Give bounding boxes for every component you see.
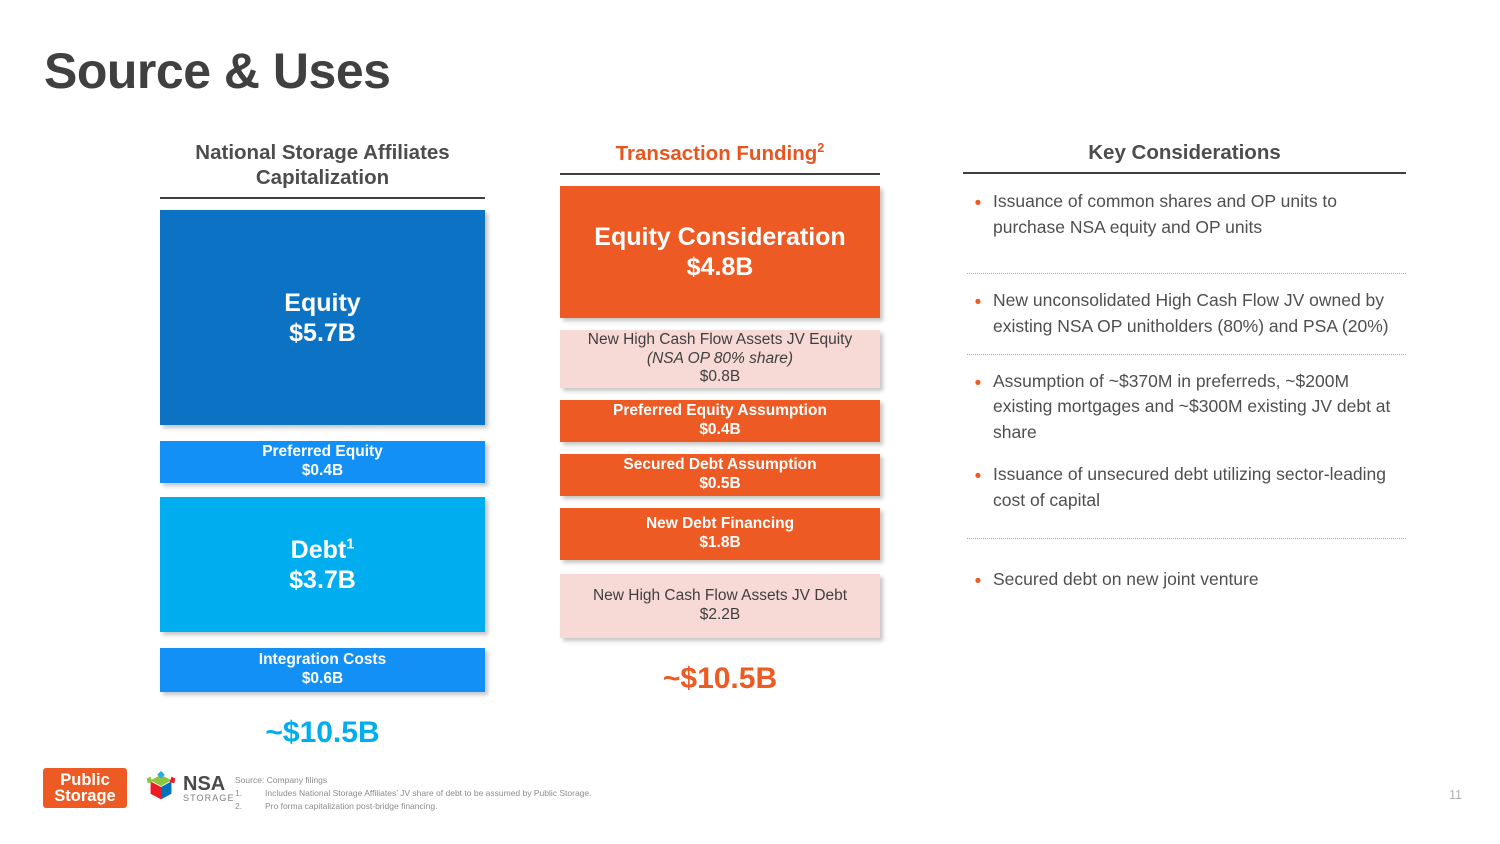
block-preferred-equity-assumption-value: $0.4B (699, 421, 740, 440)
block-preferred-equity-label: Preferred Equity (262, 443, 383, 462)
block-jv-equity[interactable]: New High Cash Flow Assets JV Equity (NSA… (560, 330, 880, 388)
block-new-debt-financing-value: $1.8B (699, 534, 740, 553)
block-jv-equity-label: New High Cash Flow Assets JV Equity (588, 331, 852, 350)
block-integration-costs-value: $0.6B (302, 670, 343, 689)
list-item[interactable]: • Issuance of common shares and OP units… (963, 185, 1406, 245)
divider (967, 538, 1406, 539)
spacer (560, 496, 880, 508)
block-equity-value: $5.7B (289, 318, 356, 348)
total-mid: ~$10.5B (560, 638, 880, 696)
block-secured-debt-assumption-value: $0.5B (699, 475, 740, 494)
block-debt-value: $3.7B (289, 565, 356, 595)
footnote-source: Source: Company filings (235, 774, 592, 787)
block-secured-debt-assumption-label: Secured Debt Assumption (623, 456, 816, 475)
block-jv-equity-value: $0.8B (700, 368, 741, 387)
block-equity-consideration[interactable]: Equity Consideration $4.8B (560, 186, 880, 318)
block-integration-costs-label: Integration Costs (259, 651, 386, 670)
block-debt-label-text: Debt (291, 536, 347, 564)
footnote-text: Includes National Storage Affiliates’ JV… (265, 787, 592, 800)
column-body-right: • Issuance of common shares and OP units… (963, 174, 1406, 600)
bullet-icon: • (963, 369, 993, 398)
spacer (160, 632, 485, 648)
column-header-transaction-funding: Transaction Funding2 (560, 140, 880, 173)
block-jv-debt-value: $2.2B (700, 606, 741, 625)
block-preferred-equity-assumption-label: Preferred Equity Assumption (613, 402, 827, 421)
consideration-group: • Issuance of common shares and OP units… (963, 185, 1406, 245)
nsa-logo-line1: NSA (183, 774, 235, 794)
consideration-text: Secured debt on new joint venture (993, 567, 1406, 593)
block-preferred-equity-assumption[interactable]: Preferred Equity Assumption $0.4B (560, 400, 880, 442)
block-new-debt-financing-label: New Debt Financing (646, 515, 794, 534)
block-equity-consideration-label: Equity Consideration (594, 222, 845, 252)
consideration-group: • Secured debt on new joint venture (963, 549, 1406, 600)
slide-root: Source & Uses National Storage Affiliate… (0, 0, 1500, 844)
footnote-number: 2. (235, 800, 265, 813)
block-new-debt-financing[interactable]: New Debt Financing $1.8B (560, 508, 880, 560)
bullet-icon: • (963, 288, 993, 317)
block-equity-consideration-value: $4.8B (687, 252, 754, 282)
column-header-text: Transaction Funding (616, 142, 818, 165)
block-equity-label: Equity (284, 288, 360, 318)
bullet-icon: • (963, 462, 993, 491)
spacer (560, 560, 880, 574)
page-number: 11 (1449, 788, 1462, 802)
column-header-footnote-marker: 2 (817, 140, 824, 155)
spacer (560, 388, 880, 400)
block-integration-costs[interactable]: Integration Costs $0.6B (160, 648, 485, 692)
block-jv-debt[interactable]: New High Cash Flow Assets JV Debt $2.2B (560, 574, 880, 638)
block-debt[interactable]: Debt1 $3.7B (160, 497, 485, 632)
nsa-logo-line2: STORAGE (183, 794, 235, 803)
column-header-line2: Capitalization (160, 165, 485, 190)
column-transaction-funding: Transaction Funding2 Equity Consideratio… (560, 140, 880, 696)
footnote-row: 2. Pro forma capitalization post-bridge … (235, 800, 592, 813)
nsa-wordmark: NSA STORAGE (183, 774, 235, 803)
page-title: Source & Uses (44, 42, 390, 100)
list-item[interactable]: • Assumption of ~$370M in preferreds, ~$… (963, 365, 1406, 451)
spacer (560, 318, 880, 330)
divider (967, 354, 1406, 355)
block-debt-label: Debt1 (291, 535, 355, 565)
block-preferred-equity[interactable]: Preferred Equity $0.4B (160, 441, 485, 483)
column-nsa-capitalization: National Storage Affiliates Capitalizati… (160, 140, 485, 750)
list-item[interactable]: • Secured debt on new joint venture (963, 563, 1406, 600)
spacer (160, 483, 485, 497)
block-jv-equity-sub: (NSA OP 80% share) (647, 350, 793, 369)
public-storage-logo-line1: Public (60, 772, 110, 788)
block-equity[interactable]: Equity $5.7B (160, 210, 485, 425)
consideration-group: • Assumption of ~$370M in preferreds, ~$… (963, 365, 1406, 518)
divider (967, 273, 1406, 274)
column-header-key-considerations: Key Considerations (963, 140, 1406, 172)
footnotes: Source: Company filings 1. Includes Nati… (235, 774, 592, 814)
total-left: ~$10.5B (160, 692, 485, 750)
block-jv-debt-label: New High Cash Flow Assets JV Debt (593, 587, 847, 606)
public-storage-logo: Public Storage (43, 768, 127, 808)
block-secured-debt-assumption[interactable]: Secured Debt Assumption $0.5B (560, 454, 880, 496)
public-storage-logo-line2: Storage (54, 788, 115, 804)
footnote-row: 1. Includes National Storage Affiliates’… (235, 787, 592, 800)
list-item[interactable]: • Issuance of unsecured debt utilizing s… (963, 450, 1406, 518)
list-item[interactable]: • New unconsolidated High Cash Flow JV o… (963, 284, 1406, 344)
bullet-icon: • (963, 189, 993, 218)
consideration-text: Issuance of common shares and OP units t… (993, 189, 1406, 241)
spacer (560, 442, 880, 454)
consideration-text: Assumption of ~$370M in preferreds, ~$20… (993, 369, 1406, 447)
column-key-considerations: Key Considerations • Issuance of common … (963, 140, 1406, 600)
nsa-logo: NSA STORAGE (142, 768, 234, 808)
block-preferred-equity-value: $0.4B (302, 462, 343, 481)
column-body-left: Equity $5.7B Preferred Equity $0.4B Debt… (160, 199, 485, 750)
footnote-text: Pro forma capitalization post-bridge fin… (265, 800, 437, 813)
nsa-cube-icon (142, 769, 180, 807)
bullet-icon: • (963, 567, 993, 596)
consideration-group: • New unconsolidated High Cash Flow JV o… (963, 284, 1406, 344)
column-body-mid: Equity Consideration $4.8B New High Cash… (560, 175, 880, 696)
spacer (160, 425, 485, 441)
column-header-nsa-capitalization: National Storage Affiliates Capitalizati… (160, 140, 485, 197)
consideration-text: New unconsolidated High Cash Flow JV own… (993, 288, 1406, 340)
column-header-line1: National Storage Affiliates (160, 140, 485, 165)
consideration-text: Issuance of unsecured debt utilizing sec… (993, 462, 1406, 514)
footnote-number: 1. (235, 787, 265, 800)
block-debt-footnote-marker: 1 (346, 536, 354, 552)
